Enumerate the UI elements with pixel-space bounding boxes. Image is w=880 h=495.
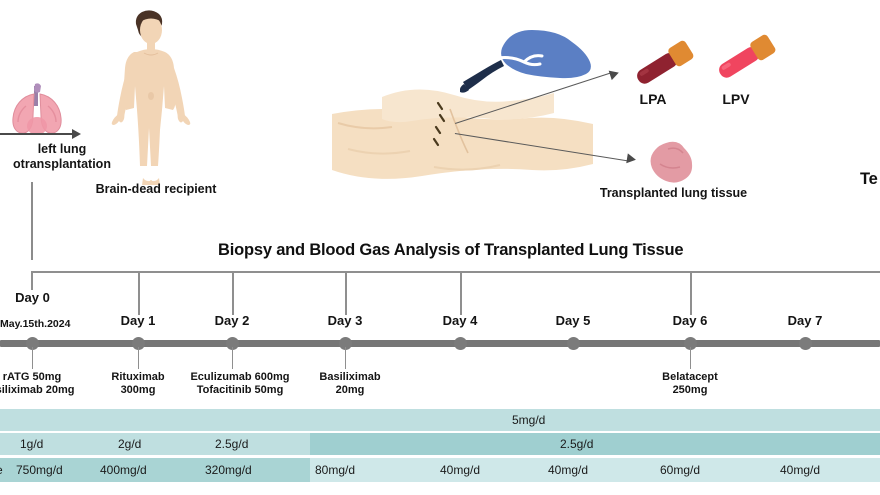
band-bottom-value-4: 40mg/d	[440, 463, 480, 477]
timeline-day-label-3: Day 3	[305, 313, 385, 328]
timeline-day-label-5: Day 5	[533, 313, 613, 328]
drug-label-4-line2: 250mg	[610, 384, 770, 397]
band-top	[0, 409, 880, 431]
band-bottom-value-3: 80mg/d	[315, 463, 355, 477]
drug-label-3: Basiliximab20mg	[270, 371, 430, 397]
band-middle-value-2: 2.5g/d	[215, 437, 248, 451]
band-middle-value-1: 2g/d	[118, 437, 141, 451]
blood-tube-lpv-icon	[712, 32, 782, 84]
drug-stem-2	[232, 347, 233, 369]
band-bottom-value-7: 40mg/d	[780, 463, 820, 477]
band-middle-value-3: 2.5g/d	[560, 437, 593, 451]
drug-label-3-line1: Basiliximab	[270, 371, 430, 384]
band-middle-dark	[310, 433, 880, 455]
recipient-body-illustration	[110, 8, 192, 188]
pointer-head-to-lpa	[609, 68, 621, 80]
gloved-hand-scalpel-icon	[460, 28, 595, 98]
transplant-caption-line1: left lung	[2, 142, 122, 157]
drug-stem-1	[138, 347, 139, 369]
band-middle-value-0: 1g/d	[20, 437, 43, 451]
drug-stem-4	[690, 347, 691, 369]
timeline-start-date: May.15th.2024	[0, 318, 70, 330]
timeline-node-4[interactable]	[454, 337, 467, 350]
band-bottom-row-label: e	[0, 463, 3, 477]
timeline-day-label-6: Day 6	[650, 313, 730, 328]
timeline-day0-label: Day 0	[0, 290, 65, 305]
biopsy-bracket-line	[31, 271, 880, 273]
sample-lpa-label: LPA	[613, 92, 693, 106]
biopsy-tick-day0	[31, 271, 33, 290]
biopsy-tick-day6	[690, 271, 692, 315]
blood-tube-lpa-icon	[630, 38, 700, 90]
biopsy-tick-day4	[460, 271, 462, 315]
transplanted-tissue-label: Transplanted lung tissue	[566, 186, 781, 200]
transplant-caption-line2: otransplantation	[2, 157, 122, 172]
lung-tissue-icon	[648, 140, 696, 184]
drug-label-3-line2: 20mg	[270, 384, 430, 397]
right-clipped-label: Te	[860, 170, 878, 189]
biopsy-tick-day2	[232, 271, 234, 315]
band-top-value-0: 5mg/d	[512, 413, 545, 427]
transplant-arrow-shaft	[0, 133, 75, 135]
biopsy-tick-day1	[138, 271, 140, 315]
pointer-head-to-tissue	[626, 153, 636, 164]
drug-stem-3	[345, 347, 346, 369]
band-bottom-value-0: 750mg/d	[16, 463, 63, 477]
timeline-day-label-4: Day 4	[420, 313, 500, 328]
band-bottom-value-6: 60mg/d	[660, 463, 700, 477]
sample-lpv-label: LPV	[696, 92, 776, 106]
transplant-arrow-caption: left lung otransplantation	[2, 142, 122, 172]
drug-stem-0	[32, 347, 33, 369]
biopsy-tick-day3	[345, 271, 347, 315]
drug-label-4-line1: Belatacept	[610, 371, 770, 384]
band-bottom-value-1: 400mg/d	[100, 463, 147, 477]
timeline-day-label-2: Day 2	[192, 313, 272, 328]
transplant-arrow-head	[72, 129, 81, 139]
timeline-day-label-1: Day 1	[98, 313, 178, 328]
left-connector-line	[31, 182, 33, 260]
timeline-node-5[interactable]	[567, 337, 580, 350]
band-bottom-value-5: 40mg/d	[548, 463, 588, 477]
band-bottom-value-2: 320mg/d	[205, 463, 252, 477]
timeline-day-label-7: Day 7	[765, 313, 845, 328]
figure-canvas: left lung otransplantation Brain-dead re…	[0, 0, 880, 495]
drug-label-4: Belatacept250mg	[610, 371, 770, 397]
section-title: Biopsy and Blood Gas Analysis of Transpl…	[218, 241, 683, 260]
recipient-label: Brain-dead recipient	[66, 182, 246, 196]
timeline-node-7[interactable]	[799, 337, 812, 350]
